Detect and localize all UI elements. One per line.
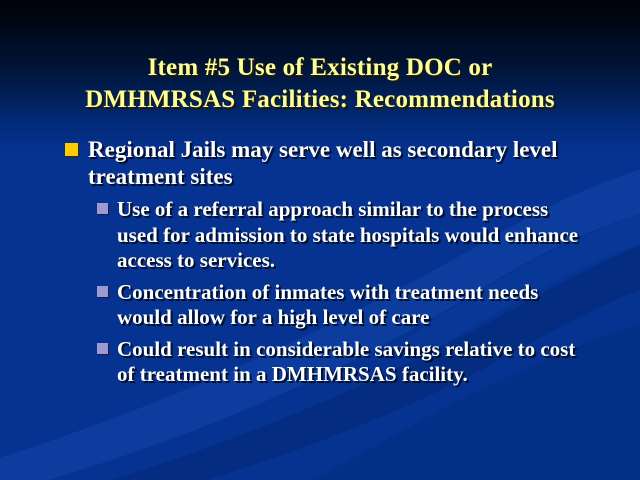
lavender-square-bullet-icon	[97, 343, 108, 354]
lavender-square-bullet-icon	[97, 286, 108, 297]
slide-canvas: Item #5 Use of Existing DOC or DMHMRSAS …	[0, 0, 640, 480]
bullet-item-level1: Regional Jails may serve well as seconda…	[0, 136, 640, 190]
lavender-square-bullet-icon	[97, 203, 108, 214]
bullet-text: Concentration of inmates with treatment …	[117, 280, 538, 330]
bullet-item-level2: Could result in considerable savings rel…	[0, 337, 640, 388]
bullet-item-level2: Concentration of inmates with treatment …	[0, 280, 640, 331]
gold-square-bullet-icon	[65, 143, 78, 156]
slide-title: Item #5 Use of Existing DOC or DMHMRSAS …	[0, 52, 640, 116]
slide-title-line-1: Item #5 Use of Existing DOC or	[0, 52, 640, 84]
bullet-item-level2: Use of a referral approach similar to th…	[0, 197, 640, 274]
bullet-text: Could result in considerable savings rel…	[117, 337, 575, 387]
bullet-text: Use of a referral approach similar to th…	[117, 197, 578, 272]
slide-title-line-2: DMHMRSAS Facilities: Recommendations	[0, 84, 640, 116]
bullet-text: Regional Jails may serve well as seconda…	[88, 137, 558, 189]
slide-body: Regional Jails may serve well as seconda…	[0, 136, 640, 394]
